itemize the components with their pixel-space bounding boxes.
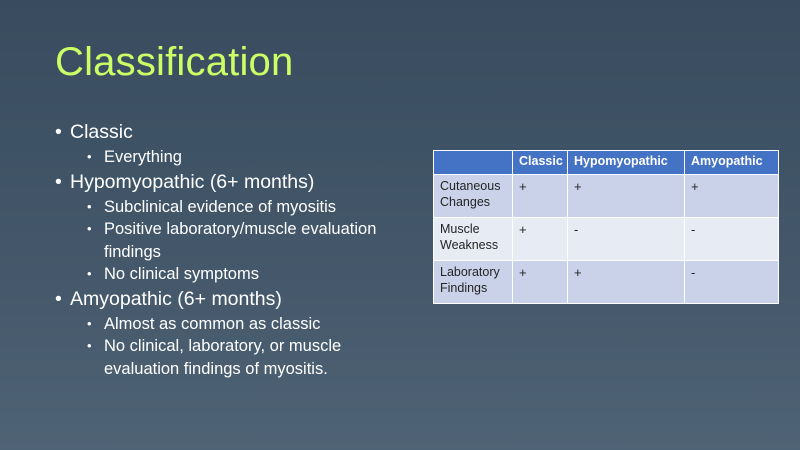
table-cell: + (513, 175, 568, 218)
table-row-label: Laboratory Findings (434, 261, 513, 304)
list-item-label: Subclinical evidence of myositis (104, 198, 336, 216)
table-cell: + (513, 261, 568, 304)
table-header-cell-hypomyopathic: Hypomyopathic (568, 151, 685, 175)
list-item-label: No clinical symptoms (104, 265, 259, 283)
list-item: • Amyopathic (6+ months) (52, 286, 412, 313)
table-cell: - (685, 261, 779, 304)
bullet-icon: • (87, 313, 92, 336)
table-cell: - (685, 218, 779, 261)
list-item-label: Positive laboratory/muscle evaluation fi… (104, 220, 376, 261)
bullet-list: • Classic • Everything • Hypomyopathic (… (52, 119, 412, 380)
table-cell: - (568, 218, 685, 261)
slide-canvas: Classification • Classic • Everything • … (0, 0, 800, 450)
bullet-icon: • (87, 335, 92, 358)
table-row: Laboratory Findings + + - (434, 261, 779, 304)
table-cell: + (685, 175, 779, 218)
list-item: • Almost as common as classic (52, 313, 412, 336)
list-item-label: No clinical, laboratory, or muscle evalu… (104, 337, 341, 378)
bullet-icon: • (87, 263, 92, 286)
bullet-icon: • (55, 169, 62, 196)
bullet-icon: • (55, 286, 62, 313)
list-item: • No clinical, laboratory, or muscle eva… (52, 335, 412, 380)
table-header-cell-amyopathic: Amyopathic (685, 151, 779, 175)
table-cell: + (513, 218, 568, 261)
bullet-icon: • (55, 119, 62, 146)
classification-table: Classic Hypomyopathic Amyopathic Cutaneo… (433, 150, 779, 304)
bullet-icon: • (87, 196, 92, 219)
list-item: • Classic (52, 119, 412, 146)
list-item: • Subclinical evidence of myositis (52, 196, 412, 219)
table-cell: + (568, 175, 685, 218)
list-item: • No clinical symptoms (52, 263, 412, 286)
bullet-icon: • (87, 218, 92, 241)
page-title: Classification (55, 38, 293, 86)
table-header-cell-classic: Classic (513, 151, 568, 175)
table-row: Cutaneous Changes + + + (434, 175, 779, 218)
bullet-icon: • (87, 146, 92, 169)
list-item-label: Hypomyopathic (6+ months) (70, 171, 314, 193)
table-header-row: Classic Hypomyopathic Amyopathic (434, 151, 779, 175)
table-row-label: Cutaneous Changes (434, 175, 513, 218)
list-item: • Everything (52, 146, 412, 169)
list-item: • Positive laboratory/muscle evaluation … (52, 218, 412, 263)
table-cell: + (568, 261, 685, 304)
table-row-label: Muscle Weakness (434, 218, 513, 261)
list-item-label: Amyopathic (6+ months) (70, 288, 282, 310)
table-row: Muscle Weakness + - - (434, 218, 779, 261)
table-header-cell-blank (434, 151, 513, 175)
list-item-label: Classic (70, 121, 133, 143)
list-item-label: Almost as common as classic (104, 315, 320, 333)
list-item-label: Everything (104, 148, 182, 166)
list-item: • Hypomyopathic (6+ months) (52, 169, 412, 196)
